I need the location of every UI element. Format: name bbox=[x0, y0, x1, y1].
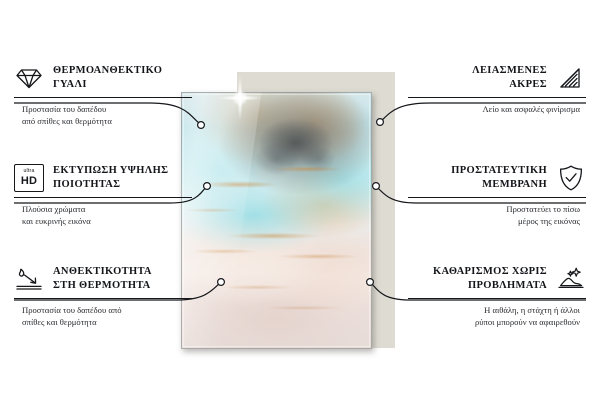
hd-badge-hd-label: HD bbox=[21, 176, 37, 187]
feature-description: Προστασία του δαπέδου από σπίθες και θερ… bbox=[14, 304, 192, 328]
feature-head: ΚΑΘΑΡΙΣΜΟΣ ΧΩΡΙΣ ΠΡΟΒΛΗΜΑΤΑ bbox=[408, 264, 586, 294]
feature-description: Πλούσια χρώματα και ευκρινής εικόνα bbox=[14, 203, 192, 227]
hd-badge: ultra HD bbox=[14, 164, 44, 192]
feature-description: Λείο και ασφαλές φινίρισμα bbox=[408, 103, 586, 115]
feature-head: ultra HD ΕΚΤΥΠΩΣΗ ΥΨΗΛΗΣ ΠΟΙΟΤΗΤΑΣ bbox=[14, 163, 192, 193]
feature-head: ΘΕΡΜΟΑΝΘΕΚΤΙΚΟ ΓΥΑΛΙ bbox=[14, 63, 192, 93]
feature-divider bbox=[408, 298, 586, 299]
diamond-icon bbox=[14, 63, 44, 93]
feature-easy-cleaning: ΚΑΘΑΡΙΣΜΟΣ ΧΩΡΙΣ ΠΡΟΒΛΗΜΑΤΑ Η αιθάλη, η … bbox=[408, 264, 586, 328]
infographic-canvas: ΘΕΡΜΟΑΝΘΕΚΤΙΚΟ ΓΥΑΛΙ Προστασία του δαπέδ… bbox=[0, 0, 600, 400]
feature-title: ΑΝΘΕΚΤΙΚΟΤΗΤΑ ΣΤΗ ΘΕΡΜΟΤΗΤΑ bbox=[53, 265, 192, 293]
product-glass-panel[interactable] bbox=[181, 92, 372, 349]
feature-high-quality-print: ultra HD ΕΚΤΥΠΩΣΗ ΥΨΗΛΗΣ ΠΟΙΟΤΗΤΑΣ Πλούσ… bbox=[14, 163, 192, 227]
feature-head: ΠΡΟΣΤΑΤΕΥΤΙΚΗ ΜΕΜΒΡΑΝΗ bbox=[408, 163, 586, 193]
feature-heat-resistance: ΑΝΘΕΚΤΙΚΟΤΗΤΑ ΣΤΗ ΘΕΡΜΟΤΗΤΑ Προστασία το… bbox=[14, 264, 192, 328]
feature-protective-membrane: ΠΡΟΣΤΑΤΕΥΤΙΚΗ ΜΕΜΒΡΑΝΗ Προστατεύει το πί… bbox=[408, 163, 586, 227]
shield-check-icon bbox=[556, 163, 586, 193]
feature-divider bbox=[408, 197, 586, 198]
feature-title: ΛΕΙΑΣΜΕΝΕΣ ΑΚΡΕΣ bbox=[408, 64, 547, 92]
feature-title: ΠΡΟΣΤΑΤΕΥΤΙΚΗ ΜΕΜΒΡΑΝΗ bbox=[408, 164, 547, 192]
ultra-hd-icon: ultra HD bbox=[14, 163, 44, 193]
product-scene bbox=[150, 30, 450, 330]
glass-reflection bbox=[181, 92, 372, 349]
feature-title: ΚΑΘΑΡΙΣΜΟΣ ΧΩΡΙΣ ΠΡΟΒΛΗΜΑΤΑ bbox=[408, 265, 547, 293]
feature-divider bbox=[14, 97, 192, 98]
feature-divider bbox=[14, 298, 192, 299]
feature-description: Προστατεύει το πίσω μέρος της εικόνας bbox=[408, 203, 586, 227]
feature-title: ΘΕΡΜΟΑΝΘΕΚΤΙΚΟ ΓΥΑΛΙ bbox=[53, 64, 192, 92]
feature-head: ΛΕΙΑΣΜΕΝΕΣ ΑΚΡΕΣ bbox=[408, 63, 586, 93]
feature-divider bbox=[14, 197, 192, 198]
feature-description: Προστασία του δαπέδου από σπίθες και θερ… bbox=[14, 103, 192, 127]
feature-divider bbox=[408, 97, 586, 98]
hd-badge-ultra-label: ultra bbox=[23, 169, 34, 174]
feature-description: Η αιθάλη, η στάχτη ή άλλοι ρύποι μπορούν… bbox=[408, 304, 586, 328]
feature-head: ΑΝΘΕΚΤΙΚΟΤΗΤΑ ΣΤΗ ΘΕΡΜΟΤΗΤΑ bbox=[14, 264, 192, 294]
polished-edges-icon bbox=[556, 63, 586, 93]
easy-clean-icon bbox=[556, 264, 586, 294]
feature-title: ΕΚΤΥΠΩΣΗ ΥΨΗΛΗΣ ΠΟΙΟΤΗΤΑΣ bbox=[53, 164, 192, 192]
heat-resistance-icon bbox=[14, 264, 44, 294]
feature-polished-edges: ΛΕΙΑΣΜΕΝΕΣ ΑΚΡΕΣ Λείο και ασφαλές φινίρι… bbox=[408, 63, 586, 115]
feature-heat-resistant-glass: ΘΕΡΜΟΑΝΘΕΚΤΙΚΟ ΓΥΑΛΙ Προστασία του δαπέδ… bbox=[14, 63, 192, 127]
